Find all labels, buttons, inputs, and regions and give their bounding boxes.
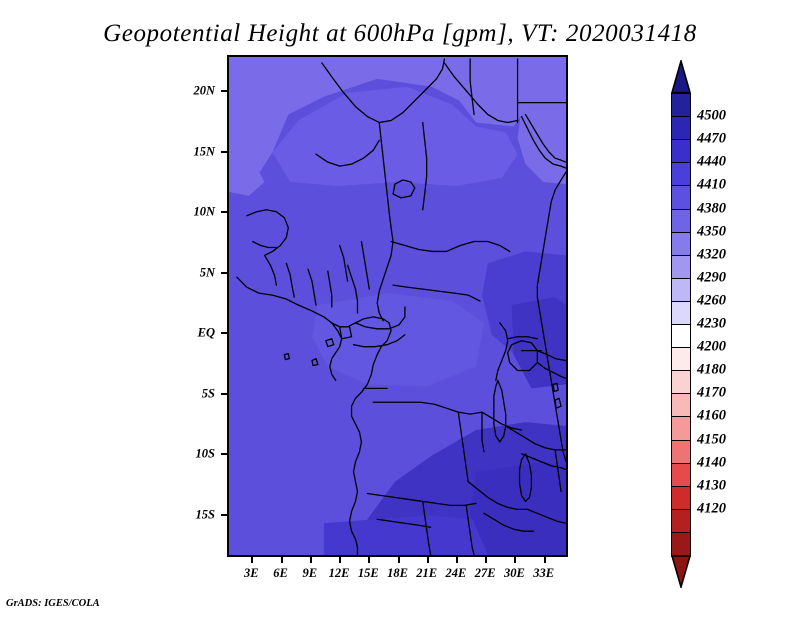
colorbar-tick-label: 4470: [697, 131, 726, 148]
y-axis-tick: [221, 453, 227, 455]
x-axis-label: 3E: [244, 566, 259, 581]
colorbar-segment: [671, 347, 691, 372]
x-axis-tick: [339, 557, 341, 563]
colorbar-tick-label: 4380: [697, 200, 726, 217]
page-title: Geopotential Height at 600hPa [gpm], VT:…: [0, 20, 800, 48]
y-axis-label: 15S: [161, 507, 215, 522]
x-axis-label: 9E: [303, 566, 318, 581]
y-axis-label: 10S: [161, 447, 215, 462]
y-axis-tick: [221, 151, 227, 153]
map-canvas: [229, 57, 566, 555]
y-axis-tick: [221, 90, 227, 92]
x-axis-tick: [456, 557, 458, 563]
y-axis-label: 20N: [161, 84, 215, 99]
x-axis-label: 18E: [387, 566, 408, 581]
x-axis-tick: [398, 557, 400, 563]
y-axis-label: 15N: [161, 144, 215, 159]
colorbar-segment: [671, 509, 691, 534]
map-plot-area: [227, 55, 568, 557]
x-axis-label: 6E: [273, 566, 288, 581]
colorbar-tick-label: 4120: [697, 500, 726, 517]
x-axis-label: 27E: [475, 566, 496, 581]
colorbar-segment: [671, 440, 691, 465]
x-axis-tick: [514, 557, 516, 563]
colorbar-arrow-top: [671, 60, 691, 93]
x-axis-tick: [251, 557, 253, 563]
y-axis-tick: [221, 211, 227, 213]
y-axis-tick: [221, 514, 227, 516]
colorbar-segment: [671, 393, 691, 418]
colorbar-tick-label: 4200: [697, 339, 726, 356]
colorbar-tick-label: 4320: [697, 246, 726, 263]
x-axis-tick: [310, 557, 312, 563]
x-axis-tick: [281, 557, 283, 563]
colorbar: 4500447044404410438043504320429042604230…: [671, 60, 691, 555]
coastline-and-borders: [229, 57, 566, 555]
colorbar-tick-label: 4410: [697, 177, 726, 194]
y-axis-label: 5N: [161, 265, 215, 280]
colorbar-segment: [671, 301, 691, 326]
x-axis-label: 12E: [329, 566, 350, 581]
x-axis-label: 15E: [358, 566, 379, 581]
y-axis-label: 5S: [161, 386, 215, 401]
y-axis-label: 10N: [161, 205, 215, 220]
colorbar-segment: [671, 463, 691, 488]
colorbar-segment: [671, 486, 691, 511]
colorbar-segment: [671, 209, 691, 234]
x-axis-label: 24E: [446, 566, 467, 581]
x-axis-tick: [427, 557, 429, 563]
y-axis-tick: [221, 393, 227, 395]
colorbar-segment: [671, 232, 691, 257]
colorbar-segment: [671, 93, 691, 118]
colorbar-tick-label: 4140: [697, 454, 726, 471]
colorbar-segment: [671, 116, 691, 141]
x-axis-label: 21E: [416, 566, 437, 581]
colorbar-tick-label: 4170: [697, 385, 726, 402]
colorbar-tick-label: 4260: [697, 292, 726, 309]
colorbar-tick-label: 4500: [697, 108, 726, 125]
colorbar-segment: [671, 139, 691, 164]
y-axis-tick: [221, 332, 227, 334]
colorbar-segment: [671, 416, 691, 441]
footer-credit: GrADS: IGES/COLA: [6, 598, 100, 609]
colorbar-tick-label: 4180: [697, 362, 726, 379]
colorbar-tick-label: 4130: [697, 477, 726, 494]
colorbar-tick-label: 4350: [697, 223, 726, 240]
colorbar-arrow-bottom: [671, 555, 691, 588]
x-axis-tick: [485, 557, 487, 563]
colorbar-segment: [671, 162, 691, 187]
x-axis-tick: [544, 557, 546, 563]
x-axis-label: 30E: [504, 566, 525, 581]
y-axis-label: EQ: [161, 326, 215, 341]
colorbar-tick-label: 4160: [697, 408, 726, 425]
colorbar-tick-label: 4230: [697, 316, 726, 333]
colorbar-tick-label: 4150: [697, 431, 726, 448]
y-axis-tick: [221, 272, 227, 274]
colorbar-tick-label: 4440: [697, 154, 726, 171]
colorbar-segment: [671, 370, 691, 395]
colorbar-segment: [671, 255, 691, 280]
x-axis-label: 33E: [533, 566, 554, 581]
colorbar-segment: [671, 324, 691, 349]
colorbar-tick-label: 4290: [697, 269, 726, 286]
x-axis-tick: [368, 557, 370, 563]
colorbar-segment: [671, 532, 691, 557]
colorbar-segment: [671, 278, 691, 303]
grads-map-figure: Geopotential Height at 600hPa [gpm], VT:…: [0, 0, 800, 618]
colorbar-segment: [671, 185, 691, 210]
